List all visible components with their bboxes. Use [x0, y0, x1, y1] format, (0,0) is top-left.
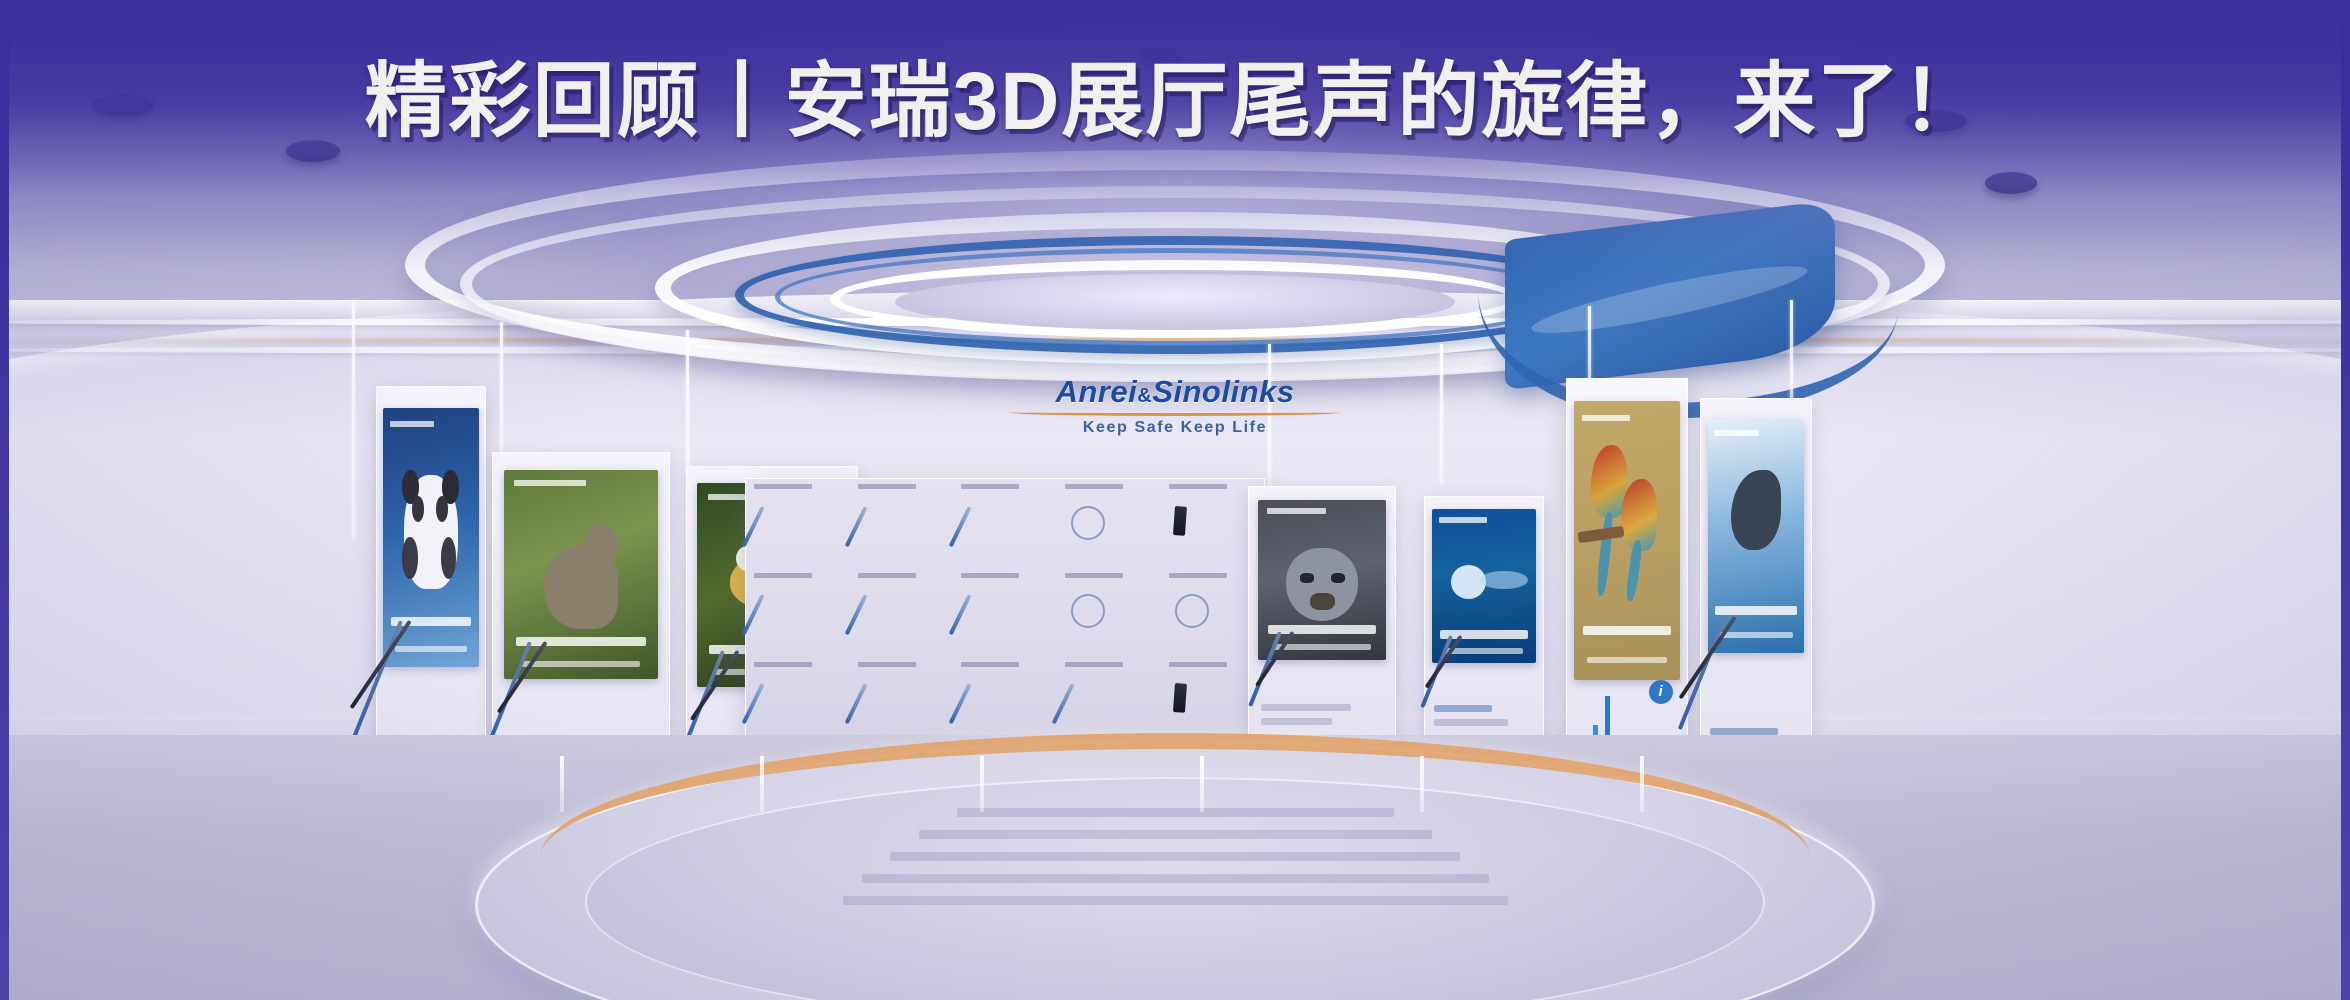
rail-post	[1640, 756, 1644, 812]
poster-title-bar	[1715, 606, 1796, 615]
poster-brand-bar	[390, 421, 434, 427]
brand-logo-text: Anrei&Sinolinks	[895, 376, 1455, 407]
badger-eye-left	[1300, 573, 1314, 583]
rail-post	[1200, 756, 1204, 812]
panda-arm-right	[441, 537, 456, 578]
poster-brand-bar	[1714, 430, 1759, 436]
product-cell[interactable]	[850, 568, 954, 657]
product-cell[interactable]	[1057, 568, 1161, 657]
rail-post	[560, 756, 564, 812]
rail-post	[1420, 756, 1424, 812]
page-title: 精彩回顾丨安瑞3D展厅尾声的旋律，来了！	[0, 34, 2350, 153]
honey-badger-head	[1286, 548, 1358, 622]
hanging-rod-1	[352, 300, 355, 540]
panda-arm-left	[402, 537, 417, 578]
panel-honey-badger[interactable]	[1248, 486, 1396, 746]
product-cell[interactable]	[1057, 479, 1161, 568]
product-cell[interactable]	[746, 568, 850, 657]
product-cell[interactable]	[953, 479, 1057, 568]
poster-subtitle-bar	[1587, 657, 1667, 663]
logo-primary: Anrei	[1055, 374, 1137, 409]
info-icon[interactable]: i	[1649, 680, 1673, 704]
product-cell[interactable]	[850, 656, 954, 745]
product-silhouette	[1261, 632, 1319, 725]
panel-jellyfish[interactable]	[1424, 496, 1544, 746]
poster-brand-bar	[1582, 415, 1631, 421]
poster-bee-eaters	[1574, 401, 1680, 680]
logo-secondary: Sinolinks	[1152, 374, 1294, 409]
medical-device-product-wall[interactable]	[745, 478, 1265, 746]
poster-brand-bar	[1267, 508, 1326, 514]
exhibition-banner: Anrei&Sinolinks Keep Safe Keep Life	[0, 0, 2350, 1000]
logo-swoosh-icon	[1010, 409, 1340, 416]
bee-eater-tail-2	[1625, 540, 1643, 602]
product-cell[interactable]	[1057, 656, 1161, 745]
seabird-silhouette	[1731, 470, 1781, 550]
product-silhouette	[1434, 636, 1481, 725]
ceiling-spotlight-4	[1985, 172, 2037, 194]
poster-brand-bar	[514, 480, 585, 486]
logo-ampersand: &	[1137, 385, 1152, 407]
patent-line	[862, 874, 1489, 883]
rail-post	[760, 756, 764, 812]
kangaroo-head	[584, 524, 618, 562]
badger-eye-right	[1331, 573, 1345, 583]
poster-title-bar	[1583, 626, 1672, 635]
ceiling-ring-core	[895, 274, 1455, 330]
bee-eater-tail-1	[1595, 512, 1613, 596]
circular-platform	[475, 740, 1875, 1000]
rail-post	[980, 756, 984, 812]
patent-line	[843, 896, 1508, 905]
patent-line	[919, 830, 1432, 839]
brand-tagline: Keep Safe Keep Life	[895, 419, 1455, 437]
patent-line	[957, 808, 1394, 817]
patents-wall-text	[700, 795, 1650, 918]
patent-line	[890, 852, 1460, 861]
brand-logo-band: Anrei&Sinolinks Keep Safe Keep Life	[895, 376, 1455, 437]
poster-brand-bar	[1439, 517, 1487, 523]
jellyfish-trail	[1480, 571, 1528, 589]
product-cell[interactable]	[953, 568, 1057, 657]
panel-seabird[interactable]	[1700, 398, 1812, 790]
product-cell[interactable]	[746, 479, 850, 568]
product-cell[interactable]	[953, 656, 1057, 745]
product-cell[interactable]	[746, 656, 850, 745]
product-cell[interactable]	[850, 479, 954, 568]
badger-snout	[1310, 593, 1334, 611]
panda-eye-right	[436, 496, 448, 522]
